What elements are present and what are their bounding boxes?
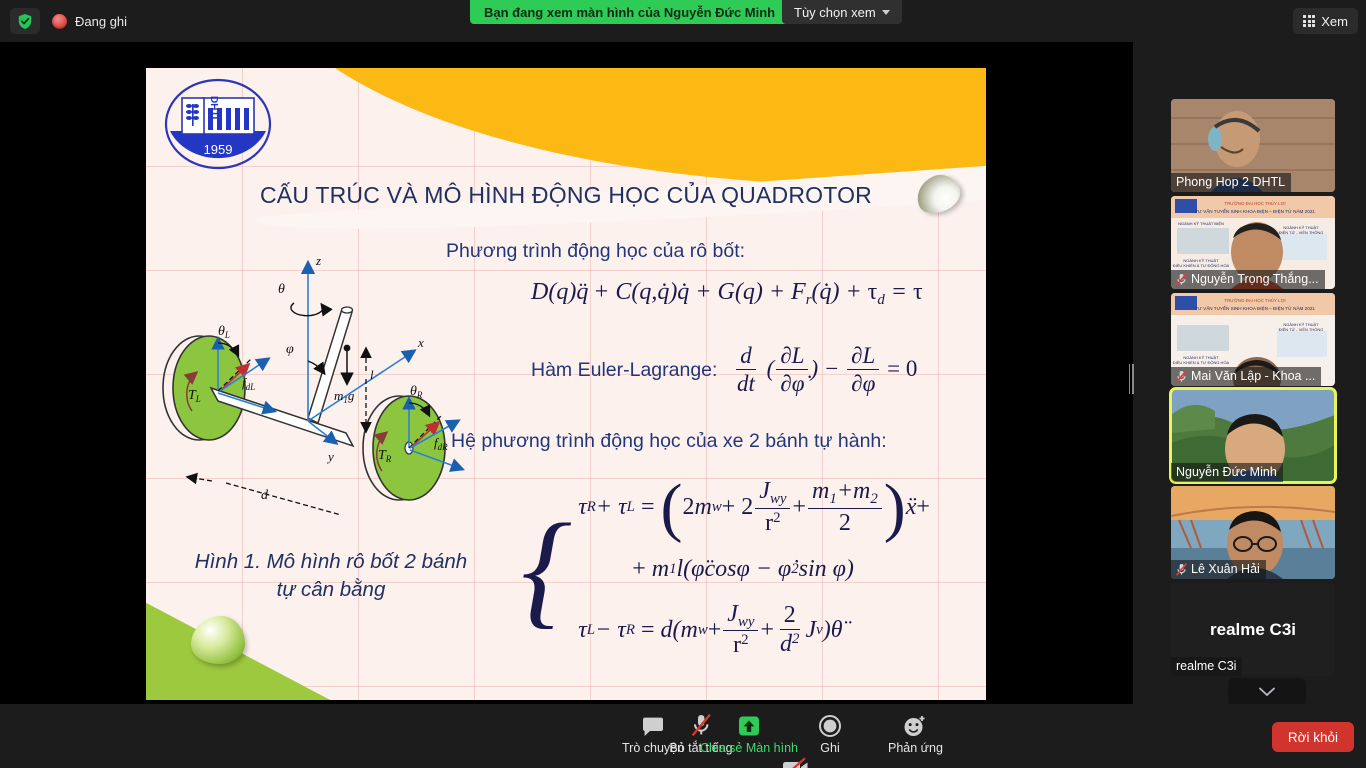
video-off-icon — [780, 755, 810, 768]
start-video-button[interactable]: Bắt đầu Video — [112, 755, 1366, 768]
share-screen-icon — [736, 712, 762, 738]
view-button-label: Xem — [1321, 14, 1348, 29]
system-brace: { — [521, 518, 572, 620]
participant-name-bar: Nguyễn Đức Minh — [1171, 463, 1283, 482]
equation-2: ddt (∂L∂φ̇) − ∂L∂φ = 0 — [731, 343, 917, 398]
svg-text:TƯ VẤN TUYỂN SINH KHOA ĐIỆN –: TƯ VẤN TUYỂN SINH KHOA ĐIỆN – ĐIỆN TỬ NĂ… — [1195, 207, 1315, 214]
chat-button[interactable]: Trò chuyện — [622, 712, 684, 755]
svg-text:ĐIỀU KHIỂN & TỰ ĐỘNG HÓA: ĐIỀU KHIỂN & TỰ ĐỘNG HÓA — [1173, 263, 1230, 268]
reactions-label: Phản ứng — [888, 741, 943, 755]
reactions-button[interactable]: Phản ứng — [888, 712, 943, 755]
svg-text:m1g: m1g — [334, 388, 355, 405]
svg-text:ĐIỆN TỬ - VIỄN THÔNG: ĐIỆN TỬ - VIỄN THÔNG — [1279, 230, 1324, 235]
svg-text:TƯ VẤN TUYỂN SINH KHOA ĐIỆN –: TƯ VẤN TUYỂN SINH KHOA ĐIỆN – ĐIỆN TỬ NĂ… — [1195, 304, 1315, 311]
equation-1: D(q)q̈ + C(q,q̇)q̇ + G(q) + Fr(q̇) + τd … — [531, 279, 923, 309]
recording-dot-icon — [52, 14, 67, 29]
participant-name: Nguyễn Trọng Thắng... — [1191, 272, 1319, 286]
svg-text:d: d — [261, 488, 269, 503]
svg-text:NGÀNH KỸ THUẬT ĐIỆN: NGÀNH KỸ THUẬT ĐIỆN — [1178, 221, 1224, 226]
participant-name-bar: Nguyễn Trọng Thắng... — [1171, 270, 1325, 289]
svg-text:TRƯỜNG ĐẠI HỌC THỦY LỢI: TRƯỜNG ĐẠI HỌC THỦY LỢI — [1224, 298, 1285, 303]
participant-name-bar: Mai Văn Lập - Khoa ... — [1171, 367, 1321, 386]
logo-text: DHTL — [208, 96, 219, 123]
participant-name: Phong Hop 2 DHTL — [1176, 175, 1285, 189]
panel-resize-handle[interactable] — [1127, 362, 1135, 396]
equation-3-line-3: τL − τR = d(mw + Jwyr2 + 2d2 Jv)θ̈ — [578, 601, 930, 661]
zoom-meeting-window: Đang ghi Bạn đang xem màn hình của Nguyễ… — [0, 0, 1366, 768]
svg-text:fdL: fdL — [242, 375, 255, 392]
participant-tile[interactable]: Phong Hop 2 DHTL — [1171, 99, 1335, 192]
chat-bubble-icon — [641, 712, 665, 738]
slide-title: CẤU TRÚC VÀ MÔ HÌNH ĐỘNG HỌC CỦA QUADROT… — [146, 182, 986, 209]
participant-tile[interactable]: TRƯỜNG ĐẠI HỌC THỦY LỢI TƯ VẤN TUYỂN SIN… — [1171, 293, 1335, 386]
security-shield-icon[interactable] — [10, 8, 40, 34]
view-options-dropdown[interactable]: Tùy chọn xem — [782, 0, 902, 24]
chat-label: Trò chuyện — [622, 741, 684, 755]
robot-diagram: z x y θ φ m1g l — [156, 243, 486, 533]
view-layout-button[interactable]: Xem — [1293, 8, 1358, 34]
svg-text:φ: φ — [286, 342, 294, 357]
participant-tile[interactable]: Lê Xuân Hải — [1171, 486, 1335, 579]
university-logo: DHTL 1959 — [158, 76, 278, 172]
participant-name: realme C3i — [1176, 659, 1236, 673]
muted-microphone-icon — [1176, 563, 1187, 576]
equation-heading-2: Hàm Euler-Lagrange: — [531, 359, 717, 382]
logo-year: 1959 — [204, 142, 233, 157]
record-icon — [818, 712, 842, 738]
svg-text:TRƯỜNG ĐẠI HỌC THỦY LỢI: TRƯỜNG ĐẠI HỌC THỦY LỢI — [1224, 201, 1285, 206]
share-screen-button[interactable]: Chia sẻ Màn hình — [700, 712, 798, 755]
view-options-label: Tùy chọn xem — [794, 5, 876, 20]
equation-heading-3: Hệ phương trình động học của xe 2 bánh t… — [451, 430, 887, 453]
equation-3-line-2: + m1l(φ̈cosφ − φ̇2 sin φ) — [578, 556, 930, 583]
svg-text:θL: θL — [218, 324, 230, 340]
meeting-toolbar: Bỏ tắt tiếng Bắt đầu Video — [0, 704, 1366, 768]
recording-label: Đang ghi — [75, 14, 127, 29]
shared-screen-stage[interactable]: DHTL 1959 CẤU TRÚC VÀ MÔ HÌNH ĐỘNG HỌC C… — [0, 42, 1133, 704]
svg-text:y: y — [326, 449, 334, 464]
figure-caption-line-1: Hình 1. Mô hình rô bốt 2 bánh — [166, 548, 496, 576]
chevron-down-icon — [1259, 687, 1275, 697]
participant-name: Nguyễn Đức Minh — [1176, 465, 1277, 479]
chevron-down-icon — [882, 10, 890, 15]
filmstrip-scroll-down-button[interactable] — [1228, 678, 1306, 706]
record-button[interactable]: Ghi — [818, 712, 842, 755]
svg-text:θ: θ — [278, 282, 285, 297]
figure-caption-line-2: tự cân bằng — [166, 576, 496, 604]
svg-text:ĐIỀU KHIỂN & TỰ ĐỘNG HÓA: ĐIỀU KHIỂN & TỰ ĐỘNG HÓA — [1173, 360, 1230, 365]
muted-microphone-icon — [1176, 370, 1187, 383]
participant-filmstrip: Phong Hop 2 DHTL TRƯỜNG ĐẠI HỌC THỦY LỢI… — [1140, 42, 1366, 704]
leave-meeting-button[interactable]: Rời khỏi — [1272, 722, 1354, 752]
svg-text:ĐIỆN TỬ - VIỄN THÔNG: ĐIỆN TỬ - VIỄN THÔNG — [1279, 327, 1324, 332]
muted-microphone-icon — [1176, 273, 1187, 286]
record-label: Ghi — [820, 741, 839, 755]
grid-icon — [1303, 15, 1315, 27]
participant-placeholder-name: realme C3i — [1210, 620, 1296, 640]
svg-text:x: x — [417, 335, 424, 350]
figure-caption: Hình 1. Mô hình rô bốt 2 bánh tự cân bằn… — [166, 548, 496, 603]
participant-tile[interactable]: realme C3i realme C3i — [1171, 583, 1335, 676]
share-screen-label: Chia sẻ Màn hình — [700, 741, 798, 755]
participant-name: Lê Xuân Hải — [1191, 562, 1260, 576]
svg-text:θR: θR — [410, 384, 423, 400]
participant-tile-active-speaker[interactable]: Nguyễn Đức Minh — [1171, 389, 1335, 482]
equation-heading-1: Phương trình động học của rô bốt: — [446, 240, 745, 263]
svg-text:l: l — [370, 367, 374, 382]
equation-3-line-1: τR + τL = ( 2mw + 2 Jwyr2 + m1+m22 ) ẍ … — [578, 478, 930, 538]
presentation-slide: DHTL 1959 CẤU TRÚC VÀ MÔ HÌNH ĐỘNG HỌC C… — [146, 68, 986, 700]
participant-name-bar: Lê Xuân Hải — [1171, 560, 1266, 579]
reactions-icon — [902, 712, 928, 738]
recording-indicator[interactable]: Đang ghi — [52, 14, 127, 29]
equation-system-3: { τR + τL = ( 2mw + 2 Jwyr2 + m1+m22 ) x… — [521, 478, 930, 660]
participant-name-bar: Phong Hop 2 DHTL — [1171, 173, 1291, 192]
screen-share-banner: Bạn đang xem màn hình của Nguyễn Đức Min… — [470, 0, 789, 24]
svg-text:z: z — [315, 253, 321, 268]
participant-name: Mai Văn Lập - Khoa ... — [1191, 369, 1315, 383]
participant-tile[interactable]: TRƯỜNG ĐẠI HỌC THỦY LỢI TƯ VẤN TUYỂN SIN… — [1171, 196, 1335, 289]
participant-name-bar: realme C3i — [1171, 657, 1242, 676]
unmute-button[interactable]: Bỏ tắt tiếng — [18, 712, 1366, 755]
